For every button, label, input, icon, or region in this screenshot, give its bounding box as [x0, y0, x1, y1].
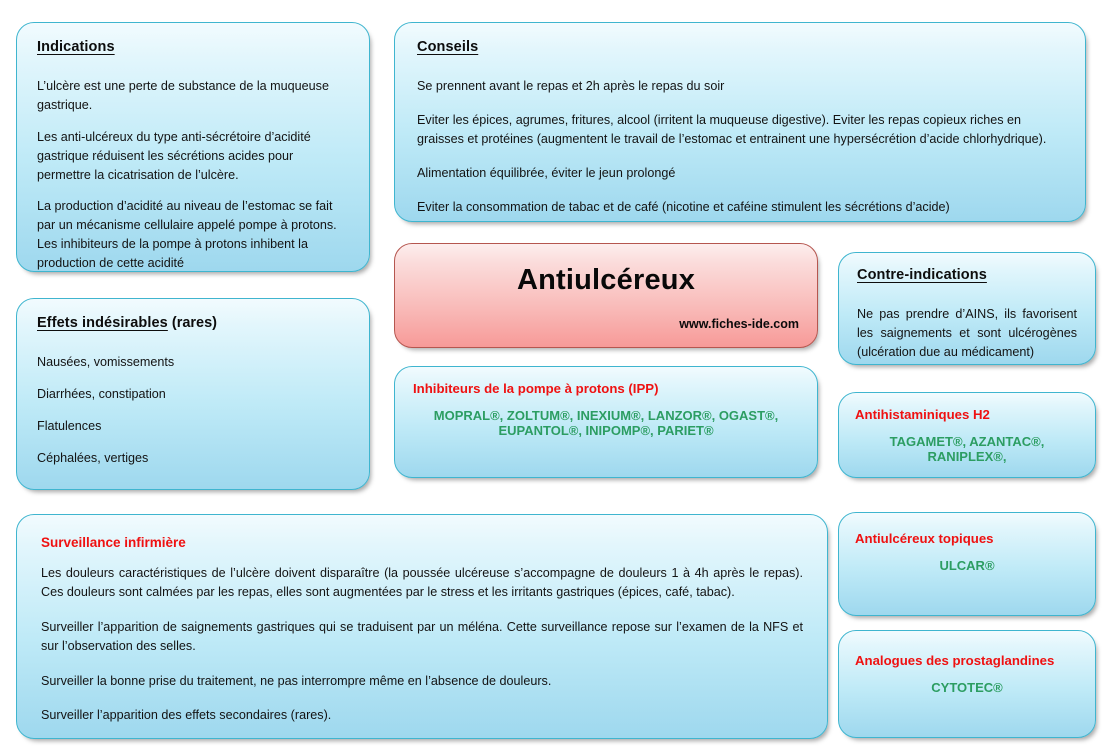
page-title: Antiulcéreux	[395, 264, 817, 297]
surveillance-paragraph-2: Surveiller l’apparition de saignements g…	[41, 618, 803, 656]
effets-heading: Effets indésirables	[37, 315, 168, 331]
drug-class-topiques-panel: Antiulcéreux topiques ULCAR®	[838, 512, 1096, 616]
drug-class-anti-h2-drugs-line1: TAGAMET®, AZANTAC®, RANIPLEX®,	[855, 434, 1079, 464]
indications-heading: Indications	[37, 39, 115, 55]
contre-indications-panel: Contre-indications Ne pas prendre d’AINS…	[838, 252, 1096, 365]
surveillance-panel: Surveillance infirmière Les douleurs car…	[16, 514, 828, 739]
drug-class-prostaglandines-title: Analogues des prostaglandines	[855, 653, 1079, 668]
contre-indications-paragraph-1: Ne pas prendre d’AINS, ils favorisent le…	[857, 305, 1077, 362]
effets-indesirables-panel: Effets indésirables (rares) Nausées, vom…	[16, 298, 370, 490]
conseils-paragraph-3: Alimentation équilibrée, éviter le jeun …	[417, 164, 1063, 183]
main-title-panel: Antiulcéreux www.fiches-ide.com	[394, 243, 818, 348]
drug-class-prostaglandines-panel: Analogues des prostaglandines CYTOTEC®	[838, 630, 1096, 738]
indications-panel: Indications L’ulcère est une perte de su…	[16, 22, 370, 272]
effets-item-1: Nausées, vomissements	[37, 353, 349, 372]
surveillance-paragraph-3: Surveiller la bonne prise du traitement,…	[41, 672, 803, 691]
drug-class-anti-h2-title: Antihistaminiques H2	[855, 407, 1079, 422]
effets-item-3: Flatulences	[37, 417, 349, 436]
conseils-heading-wrap: Conseils	[417, 39, 1063, 67]
indications-heading-wrap: Indications	[37, 39, 349, 67]
surveillance-paragraph-4: Surveiller l’apparition des effets secon…	[41, 706, 803, 725]
effets-item-4: Céphalées, vertiges	[37, 449, 349, 468]
drug-class-topiques-drugs-line1: ULCAR®	[855, 558, 1079, 573]
contre-indications-heading-wrap: Contre-indications	[857, 267, 1077, 295]
drug-class-ipp-drugs-line2: EUPANTOL®, INIPOMP®, PARIET®	[413, 423, 799, 438]
site-url: www.fiches-ide.com	[679, 317, 799, 331]
indications-paragraph-2: Les anti-ulcéreux du type anti-sécrétoir…	[37, 128, 349, 185]
indications-paragraph-1: L’ulcère est une perte de substance de l…	[37, 77, 349, 115]
contre-indications-heading: Contre-indications	[857, 267, 987, 283]
effets-heading-suffix: (rares)	[168, 315, 217, 331]
surveillance-heading: Surveillance infirmière	[41, 535, 803, 550]
conseils-heading: Conseils	[417, 39, 478, 55]
conseils-paragraph-4: Eviter la consommation de tabac et de ca…	[417, 198, 1063, 217]
drug-class-ipp-panel: Inhibiteurs de la pompe à protons (IPP) …	[394, 366, 818, 478]
main-title-inner: Antiulcéreux www.fiches-ide.com	[395, 244, 817, 347]
surveillance-paragraph-1: Les douleurs caractéristiques de l’ulcèr…	[41, 564, 803, 602]
drug-class-ipp-drugs-line1: MOPRAL®, ZOLTUM®, INEXIUM®, LANZOR®, OGA…	[413, 408, 799, 423]
drug-class-prostaglandines-drugs-line1: CYTOTEC®	[855, 680, 1079, 695]
conseils-paragraph-2: Eviter les épices, agrumes, fritures, al…	[417, 111, 1063, 149]
conseils-paragraph-1: Se prennent avant le repas et 2h après l…	[417, 77, 1063, 96]
drug-class-topiques-title: Antiulcéreux topiques	[855, 531, 1079, 546]
drug-class-anti-h2-panel: Antihistaminiques H2 TAGAMET®, AZANTAC®,…	[838, 392, 1096, 478]
conseils-panel: Conseils Se prennent avant le repas et 2…	[394, 22, 1086, 222]
effets-item-2: Diarrhées, constipation	[37, 385, 349, 404]
effets-heading-wrap: Effets indésirables (rares)	[37, 315, 349, 343]
drug-class-ipp-title: Inhibiteurs de la pompe à protons (IPP)	[413, 381, 799, 396]
indications-paragraph-3: La production d’acidité au niveau de l’e…	[37, 197, 349, 273]
